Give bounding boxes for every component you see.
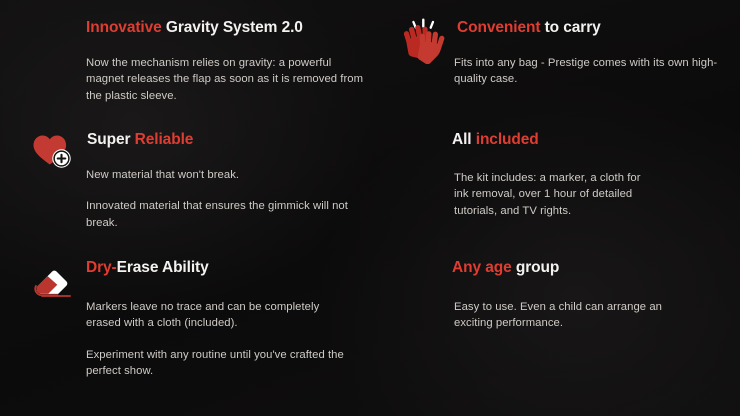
feature-block-convenient-to-carry: Convenient to carry Fits into any bag - … [398,18,728,88]
feature-paragraph: New material that won't break. [86,167,368,183]
feature-paragraph: Markers leave no trace and can be comple… [86,299,338,332]
heading-accent-segment: Reliable [135,131,194,148]
feature-heading: Innovative Gravity System 2.0 [86,18,368,38]
feature-block-super-reliable: Super Reliable New material that won't b… [28,130,368,231]
clapping-hands-icon [398,18,450,64]
feature-heading: Dry-Erase Ability [86,258,368,278]
heading-plain-segment: All [452,131,472,148]
feature-paragraph: Fits into any bag - Prestige comes with … [454,55,728,88]
feature-block-any-age-group: Any age group Easy to use. Even a child … [398,258,728,332]
feature-paragraph: Innovated material that ensures the gimm… [86,198,368,231]
heading-accent-segment: Dry- [86,259,117,276]
heading-plain-segment: Super [87,131,130,148]
feature-heading: Super Reliable [87,130,368,150]
feature-heading: Convenient to carry [457,18,728,38]
feature-block-dry-erase-ability: Dry-Erase Ability Markers leave no trace… [28,258,368,380]
feature-heading: Any age group [452,258,728,278]
heading-plain-segment: to carry [545,19,601,36]
heading-accent-segment: included [476,131,539,148]
feature-block-all-included: All included The kit includes: a marker,… [398,130,728,219]
feature-paragraph: Now the mechanism relies on gravity: a p… [86,55,368,104]
feature-grid: Innovative Gravity System 2.0 Now the me… [0,0,740,416]
feature-paragraph: The kit includes: a marker, a cloth for … [454,170,654,219]
feature-paragraph: Easy to use. Even a child can arrange an… [454,299,670,332]
heading-plain-segment: group [516,259,559,276]
heading-accent-segment: Convenient [457,19,540,36]
eraser-icon [28,258,80,304]
heading-accent-segment: Innovative [86,19,162,36]
heading-accent-segment: Any age [452,259,512,276]
heart-plus-icon [28,130,80,176]
heading-plain-segment: Erase Ability [117,259,209,276]
feature-slide: Innovative Gravity System 2.0 Now the me… [0,0,740,416]
heading-plain-segment: Gravity System 2.0 [166,19,303,36]
feature-paragraph: Experiment with any routine until you've… [86,347,344,380]
feature-block-gravity-system: Innovative Gravity System 2.0 Now the me… [28,18,368,104]
feature-heading: All included [452,130,728,150]
